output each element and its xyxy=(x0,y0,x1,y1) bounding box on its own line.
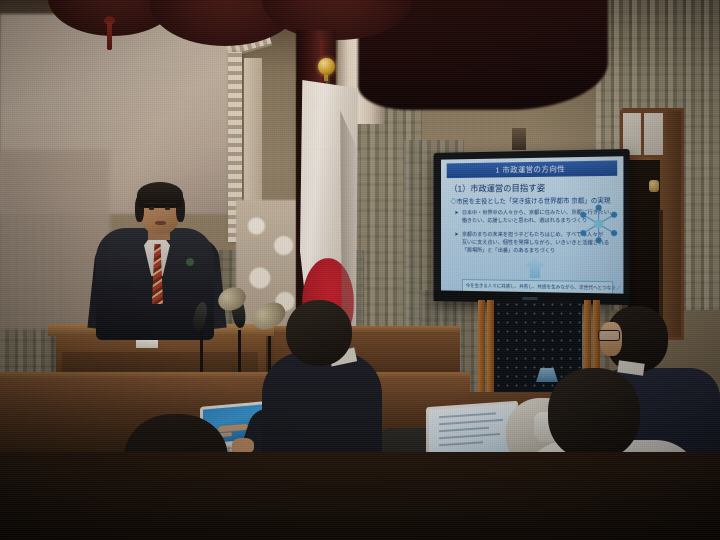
slide-bullet-marker-2: ➤ xyxy=(454,232,458,238)
network-snowflake-icon xyxy=(578,203,619,244)
display-mount xyxy=(512,128,526,150)
slide-bullet-2: 働きたい、応援したいと思われ、選ばれるまちづくり xyxy=(462,218,587,225)
slide-up-arrow-icon xyxy=(524,258,546,278)
slide-title-bar: 1 市政運営の方向性 xyxy=(447,160,618,178)
speaker-eye-left xyxy=(149,207,154,210)
press-conference-photo: 1 市政運営の方向性 （1）市政運営の目指す姿 ◇市民を主役とした「突き抜ける世… xyxy=(0,0,720,540)
door-knob-icon[interactable] xyxy=(649,180,659,192)
speaker-mouth xyxy=(155,221,166,225)
attendee-right-back-glasses-icon xyxy=(598,330,620,341)
door-hinge xyxy=(659,210,663,320)
speaker-lapel-badge-icon xyxy=(186,258,194,266)
drape-tassel xyxy=(107,22,112,50)
handout-paper-1 xyxy=(136,340,158,348)
microphone-stand-left xyxy=(200,330,203,378)
slide-heading: （1）市政運営の目指す姿 xyxy=(450,182,546,195)
microphone-stand-center xyxy=(238,330,241,378)
slide-bullet-5: 「居場所」と「出番」のあるまちづくり xyxy=(462,248,555,256)
wall-display[interactable]: 1 市政運営の方向性 （1）市政運営の目指す姿 ◇市民を主役とした「突き抜ける世… xyxy=(433,149,629,305)
floor xyxy=(0,452,720,540)
display-screen: 1 市政運営の方向性 （1）市政運営の目指す姿 ◇市民を主役とした「突き抜ける世… xyxy=(441,156,623,293)
transom-mullion xyxy=(641,112,644,156)
flag-finial-icon xyxy=(318,58,335,75)
attendee-right-front-head xyxy=(548,368,640,460)
speaker-eye-right xyxy=(165,207,170,210)
slide-bullet-marker-1: ➤ xyxy=(454,210,458,216)
reporter-center-left-head xyxy=(286,300,352,366)
wood-slat-1 xyxy=(478,300,485,396)
wood-slat-2 xyxy=(487,300,494,396)
